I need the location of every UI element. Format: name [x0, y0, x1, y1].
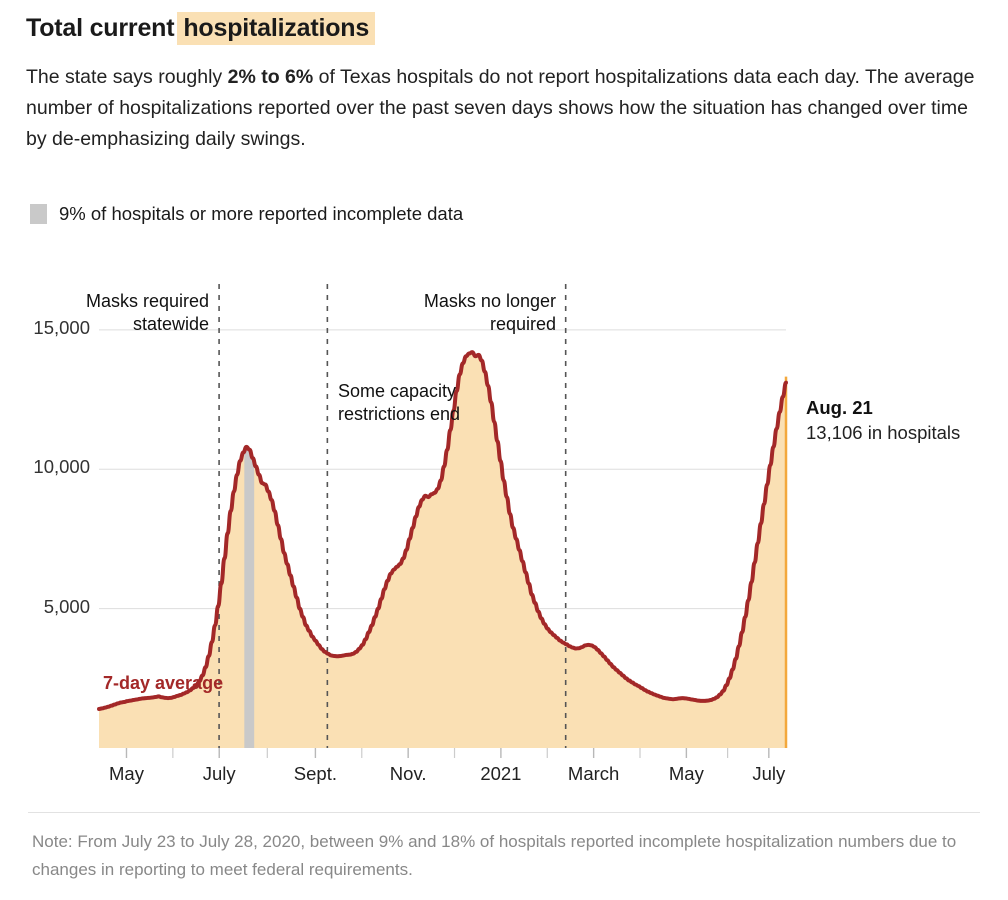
callout-value: 13,106 in hospitals [806, 420, 960, 446]
footnote: Note: From July 23 to July 28, 2020, bet… [32, 828, 982, 884]
page-title: Total currenthospitalizations [26, 14, 375, 43]
annotation-masks-required-statewide: Masks required statewide [19, 290, 209, 335]
x-axis-tick-label: 2021 [480, 763, 521, 785]
line-area-chart [0, 278, 1008, 798]
x-axis-tick-label: March [568, 763, 619, 785]
x-axis-tick-label: Nov. [390, 763, 427, 785]
legend-swatch-incomplete-data [30, 204, 47, 224]
series-label-7-day-average: 7-day average [103, 673, 223, 694]
y-axis-tick-label: 10,000 [2, 456, 90, 478]
x-axis-tick-label: July [203, 763, 236, 785]
callout-date: Aug. 21 [806, 396, 960, 420]
footnote-divider [28, 812, 980, 813]
x-axis-tick-label: May [109, 763, 144, 785]
subtitle: The state says roughly 2% to 6% of Texas… [26, 62, 988, 155]
x-axis-tick-label: May [669, 763, 704, 785]
x-axis-tick-label: Sept. [294, 763, 337, 785]
annotation-masks-no-longer-required: Masks no longer required [358, 290, 556, 335]
subtitle-part1: The state says roughly [26, 66, 228, 88]
chart-legend: 9% of hospitals or more reported incompl… [30, 203, 463, 225]
y-axis-tick-label: 5,000 [2, 596, 90, 618]
title-lead: Total current [26, 14, 174, 42]
last-point-callout: Aug. 21 13,106 in hospitals [806, 396, 960, 446]
x-axis-tick-label: July [752, 763, 785, 785]
title-highlight: hospitalizations [177, 12, 375, 45]
subtitle-bold: 2% to 6% [228, 66, 314, 88]
chart-page: Total currenthospitalizations The state … [0, 0, 1008, 900]
legend-label-incomplete-data: 9% of hospitals or more reported incompl… [59, 203, 463, 225]
annotation-capacity-restrictions-end: Some capacity restrictions end [338, 380, 468, 425]
chart-area: 5,00010,00015,000 MayJulySept.Nov.2021Ma… [0, 278, 1008, 798]
